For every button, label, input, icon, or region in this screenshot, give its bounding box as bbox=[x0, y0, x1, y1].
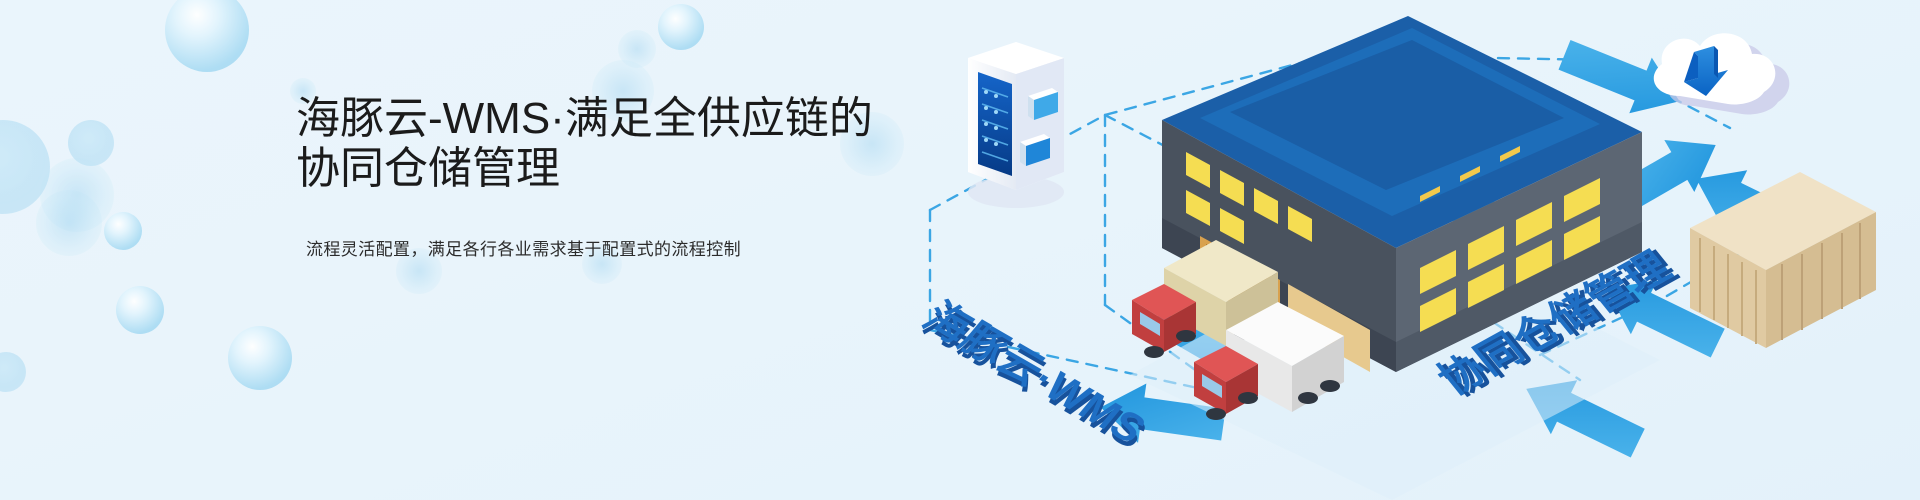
hero-banner: 海豚云-WMS·满足全供应链的 协同仓储管理 流程灵活配置，满足各行各业需求基于… bbox=[0, 0, 1920, 500]
bubble bbox=[228, 326, 292, 390]
bubble bbox=[658, 4, 704, 50]
bubble bbox=[104, 212, 142, 250]
banner-subtitle: 流程灵活配置，满足各行各业需求基于配置式的流程控制 bbox=[296, 194, 916, 262]
bubble bbox=[36, 190, 102, 256]
bubble bbox=[116, 286, 164, 334]
bubble bbox=[0, 352, 26, 392]
bubble bbox=[68, 120, 114, 166]
page-title: 海豚云-WMS·满足全供应链的 协同仓储管理 bbox=[296, 94, 916, 194]
banner-copy: 海豚云-WMS·满足全供应链的 协同仓储管理 流程灵活配置，满足各行各业需求基于… bbox=[296, 94, 916, 262]
bubble bbox=[165, 0, 249, 72]
label-left-text: 海豚云·WMS bbox=[915, 294, 1156, 452]
bubble bbox=[618, 30, 656, 68]
warehouse-illustration: 海豚云·WMS 海豚云·WMS 协同仓储管理 协同仓储管理 bbox=[900, 0, 1920, 500]
server-rack-icon bbox=[968, 42, 1064, 208]
bubble bbox=[0, 120, 50, 214]
bubble bbox=[40, 158, 114, 232]
